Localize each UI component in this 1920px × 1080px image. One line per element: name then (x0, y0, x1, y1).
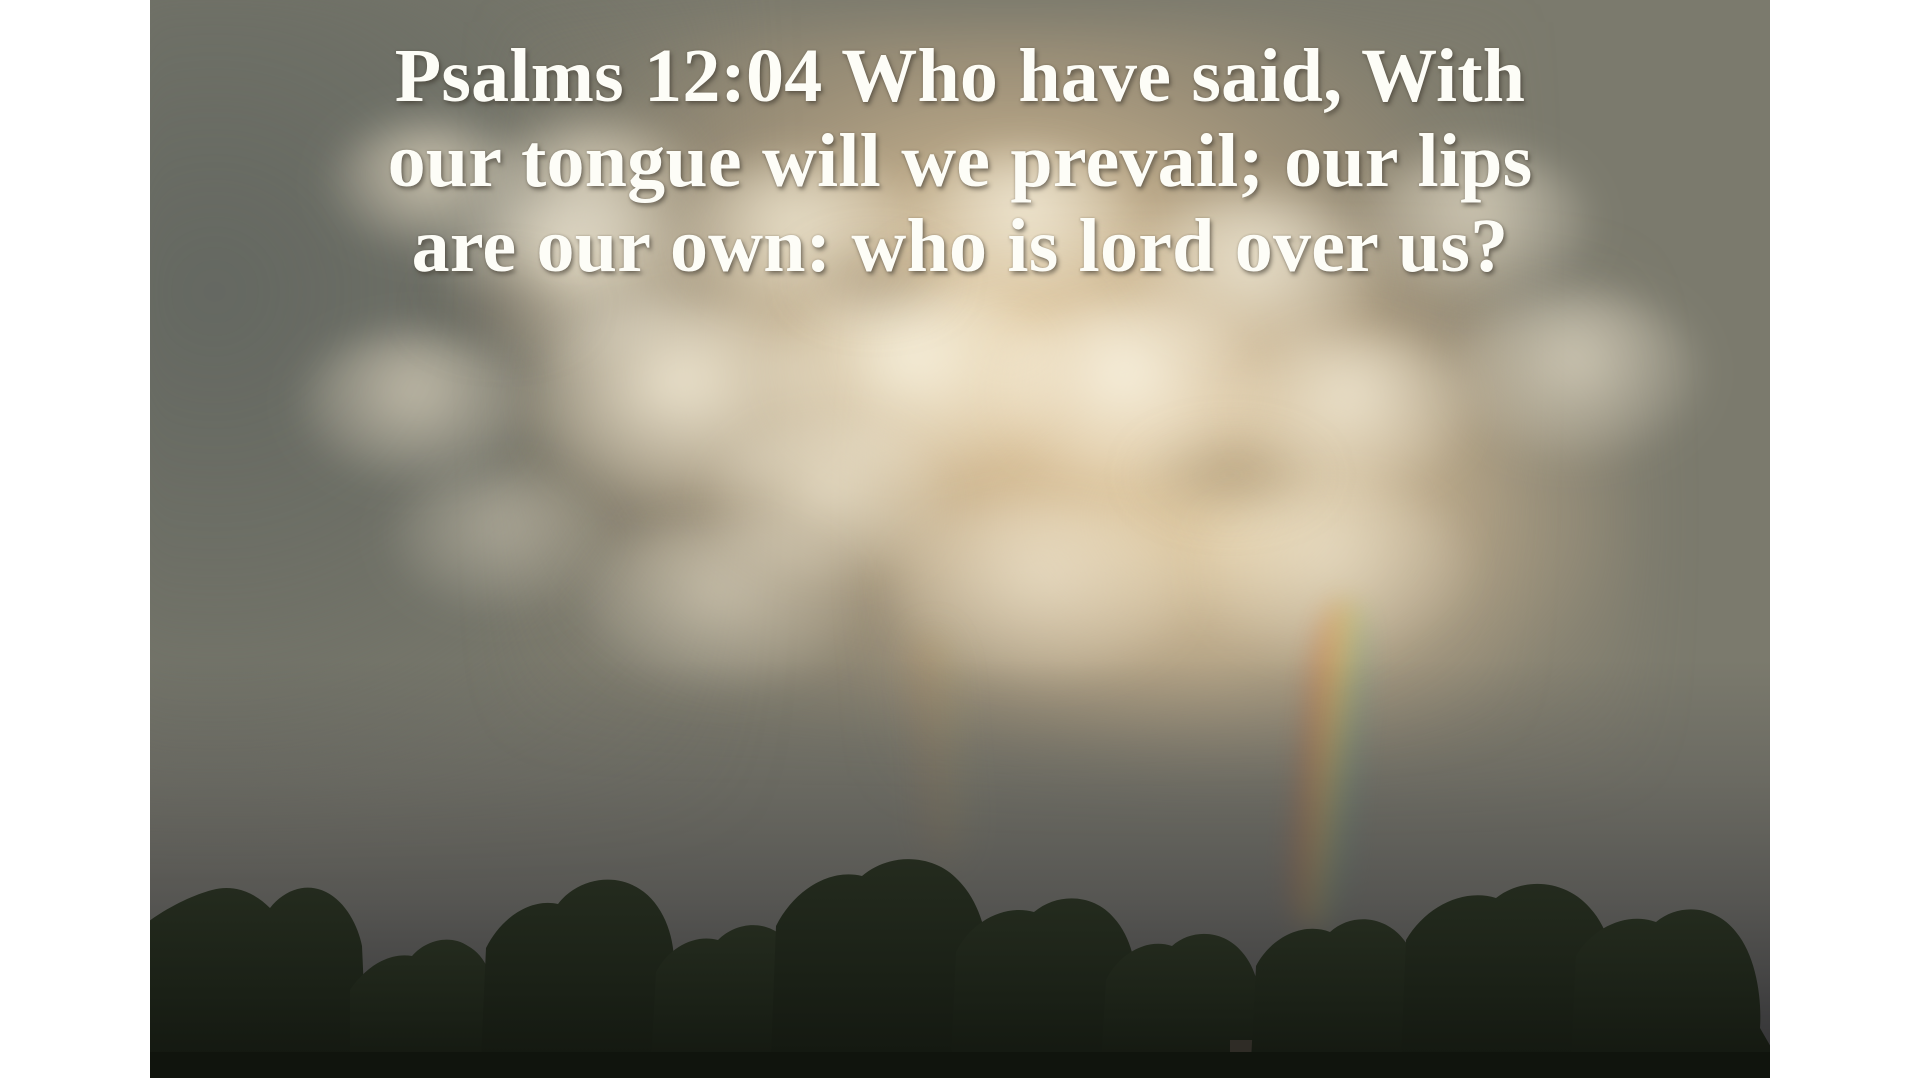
cloud-pouch (1450, 290, 1700, 460)
cloud-shadow (1130, 430, 1330, 520)
verse-line-3: are our own: who is lord over us? (190, 204, 1730, 289)
treeline-silhouette (150, 740, 1770, 1080)
left-white-margin (0, 0, 150, 1080)
screenshot-canvas: Psalms 12:04 Who have said, With our ton… (0, 0, 1920, 1080)
right-white-margin (1770, 0, 1920, 1080)
verse-line-2: our tongue will we prevail; our lips (190, 119, 1730, 204)
verse-line-1: Psalms 12:04 Who have said, With (190, 34, 1730, 119)
cloud-pouch (390, 470, 610, 610)
scripture-overlay-text: Psalms 12:04 Who have said, With our ton… (150, 34, 1770, 289)
cloud-pouch (300, 330, 530, 480)
